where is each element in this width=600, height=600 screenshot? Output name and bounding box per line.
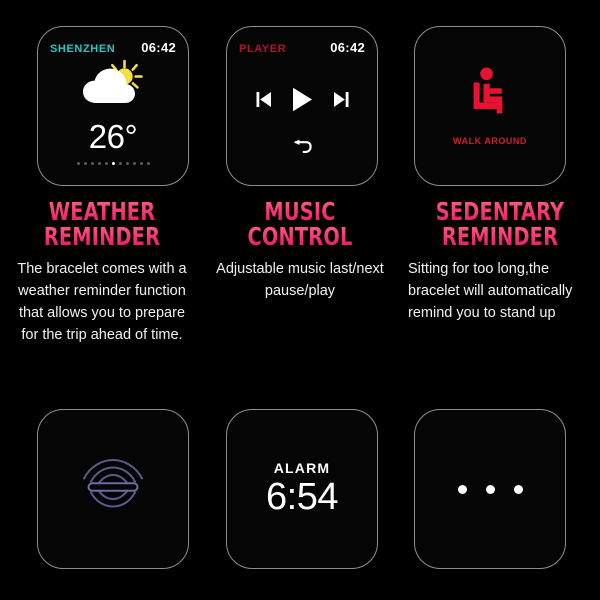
weather-clock: 06:42 [141, 40, 176, 55]
watch-screen-more-menu [414, 409, 566, 569]
play-icon[interactable] [292, 87, 313, 117]
page-dot [119, 162, 122, 165]
watch-screen-vibration [37, 409, 189, 569]
feature-title-line2: REMINDER [26, 225, 177, 250]
product-feature-collage: SHENZHEN 06:42 26° [0, 0, 600, 600]
page-dot [91, 162, 94, 165]
music-clock: 06:42 [330, 40, 365, 55]
vibration-content [38, 410, 188, 568]
feature-body-text: Adjustable music last/next pause/play [212, 258, 388, 302]
feature-title-line2: REMINDER [421, 225, 579, 250]
watch-screen-music: PLAYER 06:42 [226, 26, 378, 186]
weather-status-bar: SHENZHEN 06:42 [50, 40, 176, 55]
three-dots-icon[interactable] [415, 410, 565, 568]
watch-screen-sedentary: WALK AROUND [414, 26, 566, 186]
music-player-label: PLAYER [239, 43, 286, 55]
page-dot [84, 162, 87, 165]
seated-person-icon [462, 66, 518, 127]
alarm-content: ALARM 6:54 [227, 410, 377, 568]
feature-sedentary-reminder: SEDENTARY REMINDER Sitting for too long,… [400, 200, 600, 400]
page-dot [133, 162, 136, 165]
page-dot [105, 162, 108, 165]
weather-city-label: SHENZHEN [50, 43, 115, 55]
sedentary-content: WALK AROUND [415, 27, 565, 185]
music-transport-controls [227, 87, 377, 117]
watch-screen-weather: SHENZHEN 06:42 26° [37, 26, 189, 186]
feature-body-text: Sitting for too long,the bracelet will a… [408, 258, 592, 324]
feature-title-line2: CONTROL [224, 225, 375, 250]
page-dot [147, 162, 150, 165]
weather-temperature: 26° [38, 120, 188, 153]
menu-dot [486, 485, 495, 494]
partly-cloudy-icon [38, 59, 188, 105]
feature-body-text: The bracelet comes with a weather remind… [14, 258, 190, 346]
alarm-time: 6:54 [266, 478, 338, 518]
page-dot [77, 162, 80, 165]
page-dot [126, 162, 129, 165]
page-dot [98, 162, 101, 165]
watch-screen-alarm: ALARM 6:54 [226, 409, 378, 569]
menu-dot [514, 485, 523, 494]
feature-music-control: MUSIC CONTROL Adjustable music last/next… [200, 200, 400, 400]
page-dot-active [112, 162, 115, 165]
return-arrow-icon[interactable] [291, 139, 313, 161]
next-track-icon[interactable] [333, 91, 349, 113]
vibration-waves-icon [76, 450, 150, 529]
sedentary-walk-around-label: WALK AROUND [453, 136, 527, 146]
feature-weather-reminder: WEATHER REMINDER The bracelet comes with… [0, 200, 200, 400]
alarm-label: ALARM [274, 460, 331, 476]
previous-track-icon[interactable] [256, 91, 272, 113]
page-dot [140, 162, 143, 165]
weather-page-indicator[interactable] [38, 162, 188, 165]
music-back-control [227, 139, 377, 161]
feature-descriptions: WEATHER REMINDER The bracelet comes with… [0, 200, 600, 400]
music-status-bar: PLAYER 06:42 [239, 40, 365, 55]
menu-dot [458, 485, 467, 494]
